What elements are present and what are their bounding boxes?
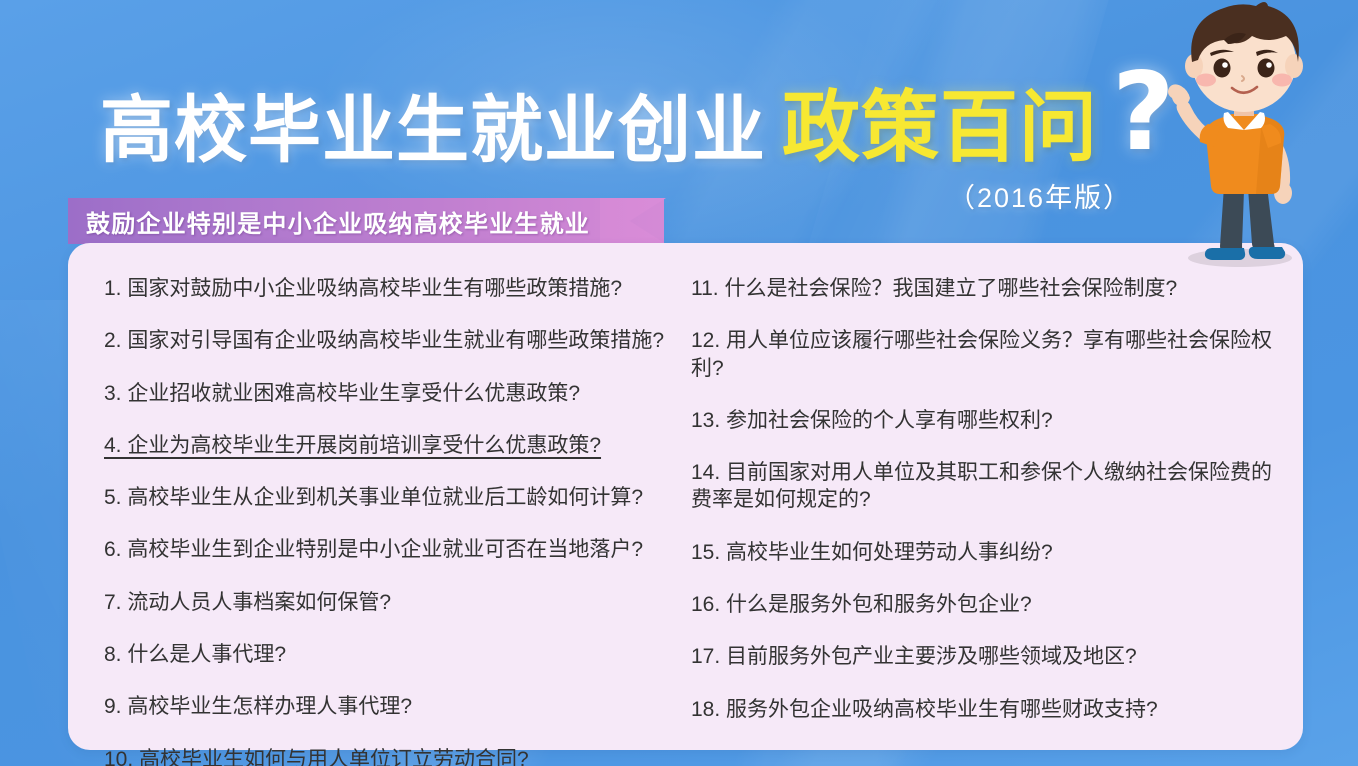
question-item[interactable]: 7. 流动人员人事档案如何保管? (104, 589, 668, 616)
title-main-text: 高校毕业生就业创业 (100, 94, 766, 167)
questions-column-left: 1. 国家对鼓励中小企业吸纳高校毕业生有哪些政策措施?2. 国家对引导国有企业吸… (68, 269, 668, 750)
question-item[interactable]: 3. 企业招收就业困难高校毕业生享受什么优惠政策? (104, 380, 668, 407)
question-item[interactable]: 6. 高校毕业生到企业特别是中小企业就业可否在当地落户? (104, 536, 668, 563)
title-accent-text: 政策百问 (782, 89, 1098, 167)
mascot-illustration (1128, 0, 1358, 270)
question-item[interactable]: 9. 高校毕业生怎样办理人事代理? (104, 693, 668, 720)
section-ribbon: 鼓励企业特别是中小企业吸纳高校毕业生就业 (68, 198, 664, 244)
question-item[interactable]: 17. 目前服务外包产业主要涉及哪些领域及地区? (691, 643, 1280, 670)
question-item[interactable]: 2. 国家对引导国有企业吸纳高校毕业生就业有哪些政策措施? (104, 327, 668, 354)
edition-label: （2016年版） (948, 176, 1132, 215)
question-item[interactable]: 4. 企业为高校毕业生开展岗前培训享受什么优惠政策? (104, 432, 668, 459)
question-item[interactable]: 15. 高校毕业生如何处理劳动人事纠纷? (691, 539, 1280, 566)
questions-columns: 1. 国家对鼓励中小企业吸纳高校毕业生有哪些政策措施?2. 国家对引导国有企业吸… (68, 243, 1303, 750)
question-item[interactable]: 1. 国家对鼓励中小企业吸纳高校毕业生有哪些政策措施? (104, 275, 668, 302)
question-item[interactable]: 18. 服务外包企业吸纳高校毕业生有哪些财政支持? (691, 696, 1280, 723)
question-item[interactable]: 13. 参加社会保险的个人享有哪些权利? (691, 407, 1280, 434)
question-item[interactable]: 14. 目前国家对用人单位及其职工和参保个人缴纳社会保险费的费率是如何规定的? (691, 459, 1280, 514)
question-item[interactable]: 11. 什么是社会保险？我国建立了哪些社会保险制度? (691, 275, 1280, 302)
question-item[interactable]: 16. 什么是服务外包和服务外包企业? (691, 591, 1280, 618)
questions-column-right: 11. 什么是社会保险？我国建立了哪些社会保险制度?12. 用人单位应该履行哪些… (668, 269, 1280, 750)
question-item[interactable]: 10. 高校毕业生如何与用人单位订立劳动合同? (104, 746, 668, 766)
questions-panel: 1. 国家对鼓励中小企业吸纳高校毕业生有哪些政策措施?2. 国家对引导国有企业吸… (68, 243, 1303, 750)
question-item[interactable]: 8. 什么是人事代理? (104, 641, 668, 668)
poster-title: 高校毕业生就业创业 政策百问 ? (100, 62, 1175, 167)
question-item[interactable]: 12. 用人单位应该履行哪些社会保险义务？享有哪些社会保险权利? (691, 327, 1280, 382)
question-item[interactable]: 5. 高校毕业生从企业到机关事业单位就业后工龄如何计算? (104, 484, 668, 511)
poster-root: 高校毕业生就业创业 政策百问 ? （2016年版） 鼓励企业特别是中小企业吸纳高… (0, 0, 1358, 766)
section-heading-label: 鼓励企业特别是中小企业吸纳高校毕业生就业 (86, 204, 590, 239)
